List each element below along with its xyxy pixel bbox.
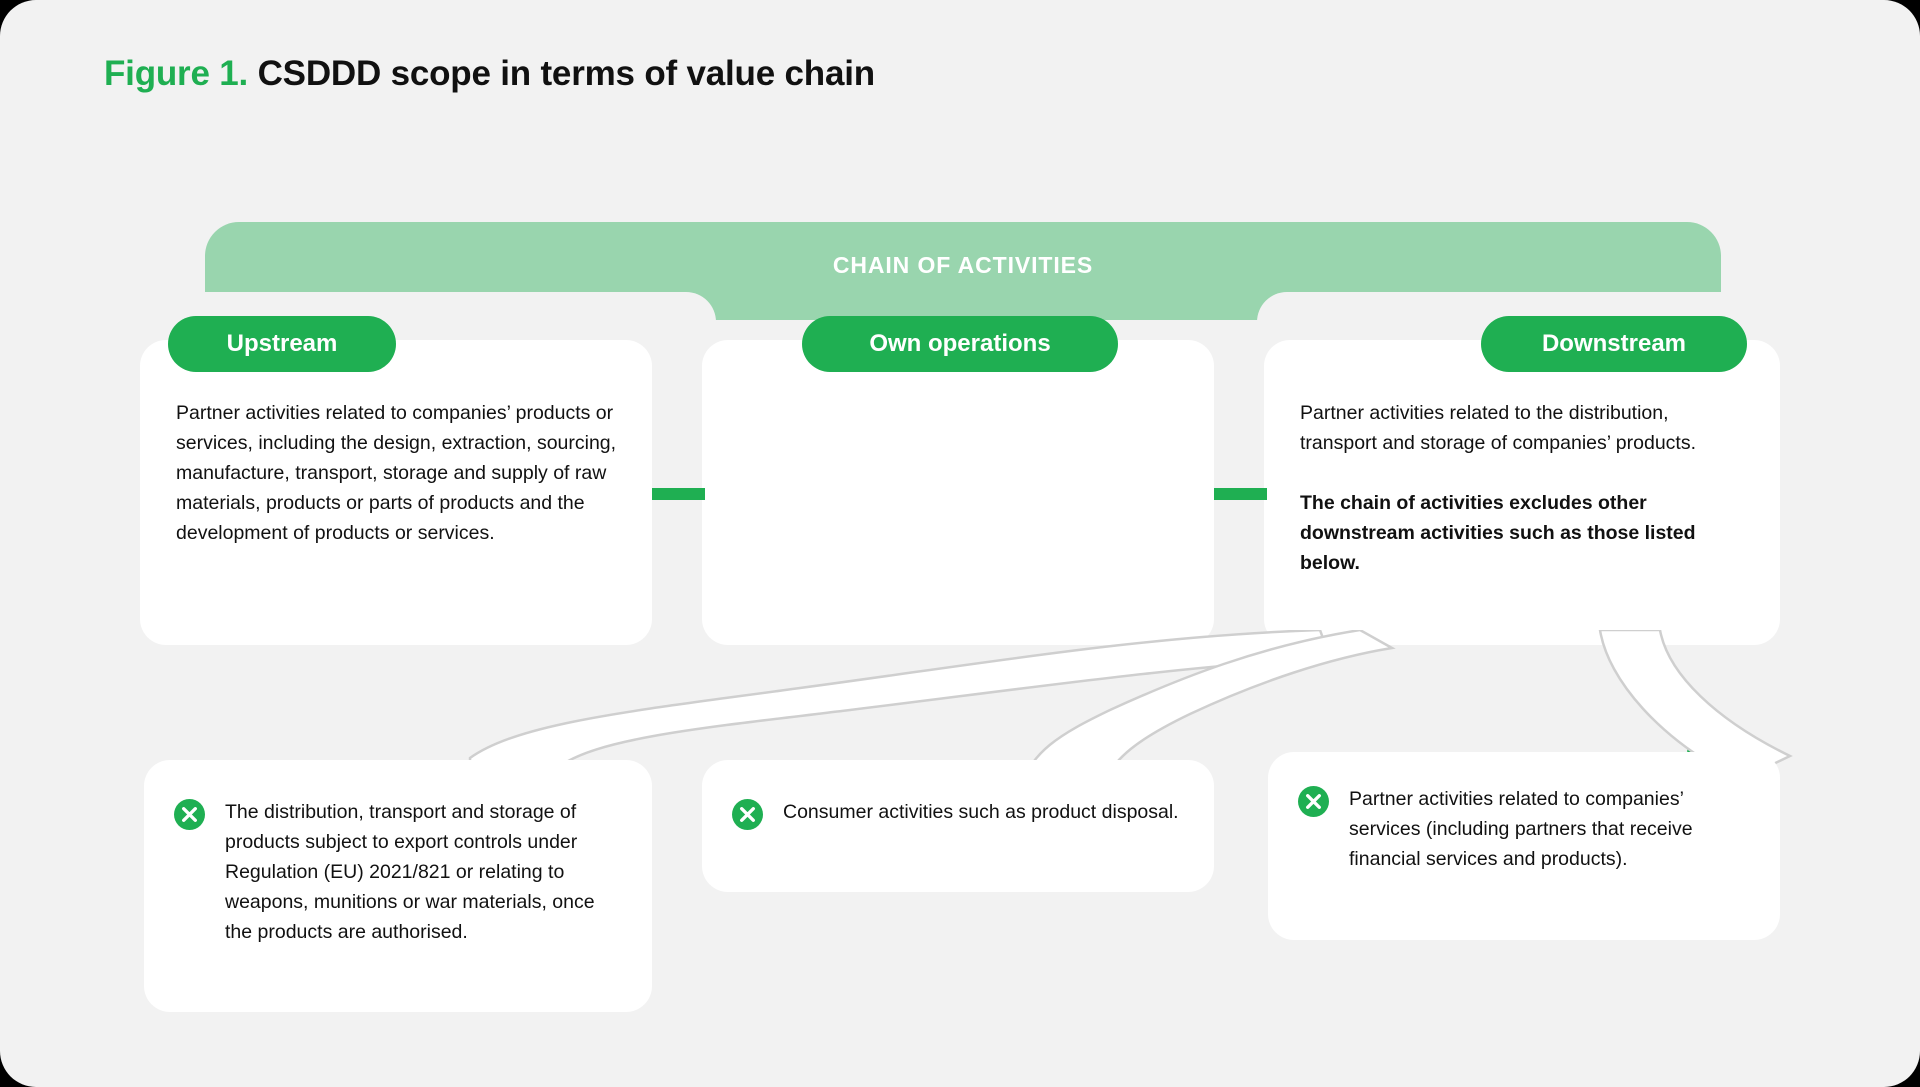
figure-label: Figure 1. — [104, 54, 248, 93]
card-downstream: Partner activities related to the distri… — [1264, 340, 1780, 645]
card-downstream-paragraph-bold: The chain of activities excludes other d… — [1300, 488, 1746, 578]
figure-title-text: CSDDD scope in terms of value chain — [258, 54, 875, 93]
pill-own-operations-label: Own operations — [869, 330, 1050, 358]
exclusion-card: Partner activities related to companies’… — [1268, 752, 1780, 940]
circle-x-icon — [1298, 786, 1329, 817]
card-upstream-body: Partner activities related to companies’… — [176, 398, 618, 548]
card-own-operations — [702, 340, 1214, 645]
pill-upstream-label: Upstream — [227, 330, 338, 358]
pill-downstream[interactable]: Downstream — [1481, 316, 1747, 372]
figure-container: Figure 1. CSDDD scope in terms of value … — [0, 0, 1920, 1087]
exclusion-card: The distribution, transport and storage … — [144, 760, 652, 1012]
pill-downstream-label: Downstream — [1542, 330, 1686, 358]
exclusion-text: The distribution, transport and storage … — [225, 797, 624, 947]
connector-dash-left — [652, 488, 705, 500]
exclusion-card: Consumer activities such as product disp… — [702, 760, 1214, 892]
exclusion-text: Partner activities related to companies’… — [1349, 784, 1752, 874]
exclusion-text: Consumer activities such as product disp… — [783, 797, 1179, 827]
card-downstream-body: Partner activities related to the distri… — [1300, 398, 1746, 578]
chain-of-activities-label: CHAIN OF ACTIVITIES — [205, 252, 1721, 279]
card-upstream: Partner activities related to companies’… — [140, 340, 652, 645]
circle-x-icon — [732, 799, 763, 830]
pill-own-operations[interactable]: Own operations — [802, 316, 1118, 372]
pill-upstream[interactable]: Upstream — [168, 316, 396, 372]
page-title: Figure 1. CSDDD scope in terms of value … — [104, 54, 875, 94]
card-upstream-paragraph: Partner activities related to companies’… — [176, 398, 618, 548]
circle-x-icon — [174, 799, 205, 830]
card-downstream-paragraph: Partner activities related to the distri… — [1300, 398, 1746, 458]
connector-dash-right — [1214, 488, 1267, 500]
